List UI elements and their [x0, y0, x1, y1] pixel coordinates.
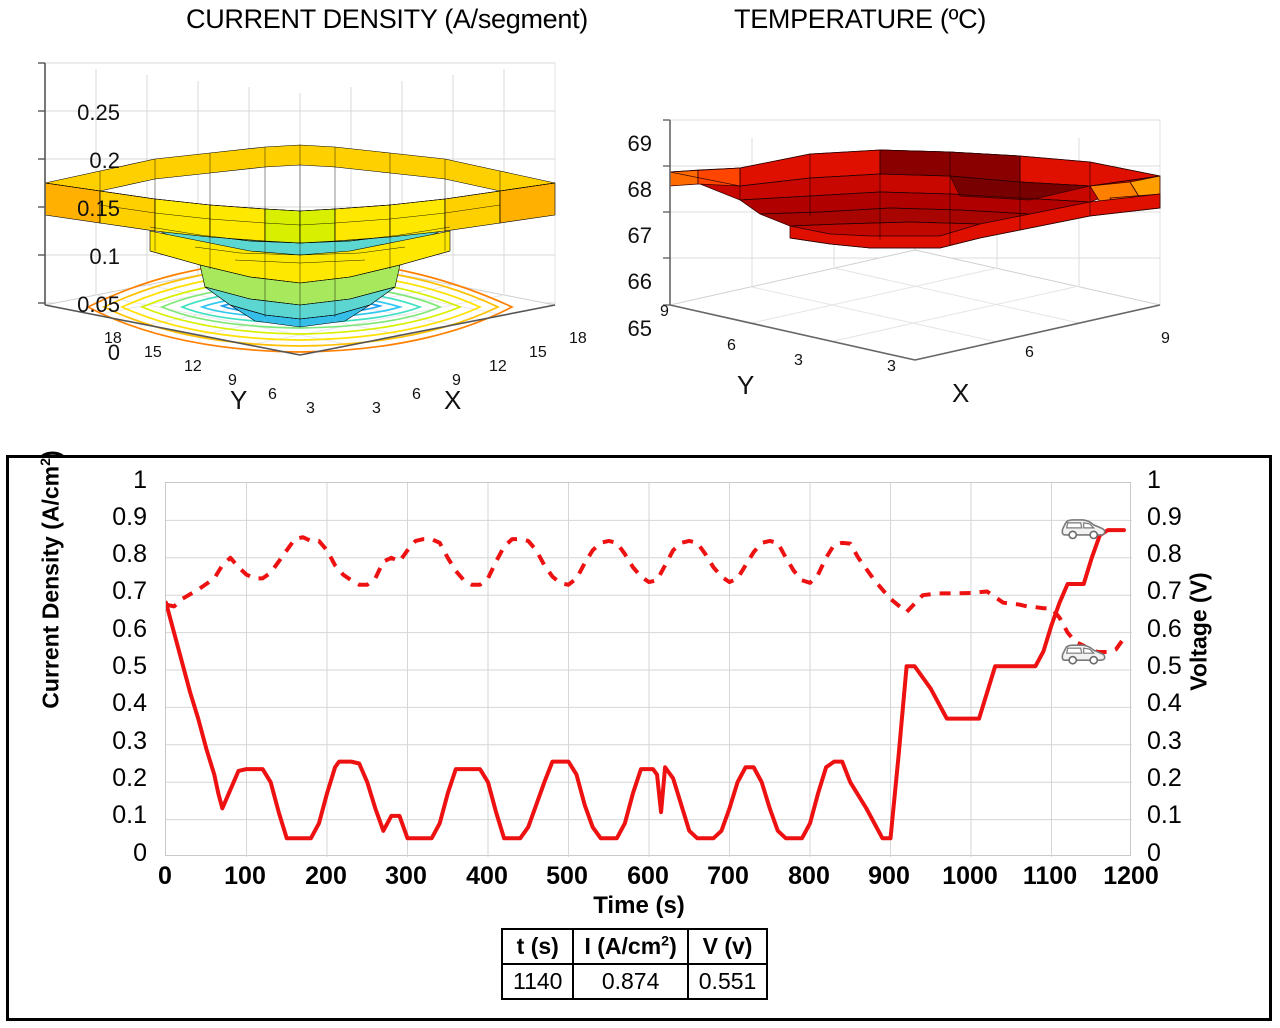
temp-x-tick-0: 3	[887, 358, 896, 376]
left-y-axis-label-close: )	[38, 450, 64, 458]
temperature-surface-plot	[640, 90, 1240, 470]
x-tick-1200: 1200	[1086, 862, 1176, 891]
table-row: 1140 0.874 0.551	[502, 964, 767, 999]
x-tick-700: 700	[683, 862, 773, 891]
current-z-tick-1: 0.2	[10, 148, 120, 174]
x-tick-1000: 1000	[925, 862, 1015, 891]
current-y-tick-1: 15	[144, 344, 162, 362]
x-tick-300: 300	[361, 862, 451, 891]
x-tick-100: 100	[200, 862, 290, 891]
header-time: t (s)	[502, 929, 573, 964]
readout-table: t (s) I (A/cm2) V (v) 1140 0.874 0.551	[501, 928, 768, 1000]
header-current: I (A/cm2)	[573, 929, 687, 964]
left-y-axis-label: Current Density (A/cm2)	[38, 420, 65, 740]
x-tick-900: 900	[844, 862, 934, 891]
current-x-tick-1: 6	[412, 386, 421, 404]
header-current-close: )	[669, 933, 677, 959]
chart-plot-area[interactable]	[165, 482, 1131, 856]
current-x-tick-0: 3	[372, 400, 381, 418]
current-z-tick-3: 0.1	[10, 244, 120, 270]
cell-time: 1140	[502, 964, 573, 999]
current-density-series-line	[166, 530, 1124, 838]
current-y-tick-4: 6	[268, 386, 277, 404]
current-y-tick-2: 12	[184, 358, 202, 376]
x-tick-0: 0	[120, 862, 210, 891]
car-icon-lower	[1062, 645, 1104, 664]
current-x-tick-4: 15	[529, 344, 547, 362]
temp-z-tick-2: 67	[600, 223, 652, 249]
temp-y-tick-0: 9	[660, 303, 669, 321]
temp-y-tick-1: 6	[727, 337, 736, 355]
x-tick-800: 800	[764, 862, 854, 891]
left-y-tick-0.8: 0.8	[87, 540, 147, 569]
left-y-tick-0.3: 0.3	[87, 727, 147, 756]
right-y-tick-0.2: 0.2	[1147, 764, 1207, 793]
left-y-tick-0.1: 0.1	[87, 801, 147, 830]
temp-x-tick-1: 6	[1025, 344, 1034, 362]
header-voltage: V (v)	[688, 929, 768, 964]
temp-x-tick-2: 9	[1161, 330, 1170, 348]
current-z-tick-2: 0.15	[10, 196, 120, 222]
header-current-text: I (A/cm	[584, 933, 661, 959]
left-y-axis-label-sup: 2	[38, 458, 54, 466]
left-y-tick-0.5: 0.5	[87, 652, 147, 681]
right-y-axis-label: Voltage (V)	[1186, 512, 1213, 752]
x-tick-400: 400	[442, 862, 532, 891]
current-density-plot-title: CURRENT DENSITY (A/segment)	[186, 4, 588, 35]
table-header-row: t (s) I (A/cm2) V (v)	[502, 929, 767, 964]
line-chart-panel: 1 0.9 0.8 0.7 0.6 0.5 0.4 0.3 0.2 0.1 0 …	[6, 455, 1272, 1021]
x-tick-1100: 1100	[1005, 862, 1095, 891]
temp-z-tick-4: 65	[600, 316, 652, 342]
left-y-tick-0.7: 0.7	[87, 577, 147, 606]
x-tick-600: 600	[603, 862, 693, 891]
temp-z-tick-1: 68	[600, 177, 652, 203]
current-z-tick-4: 0.05	[10, 292, 120, 318]
temp-z-tick-0: 69	[600, 131, 652, 157]
surface-plots-row: CURRENT DENSITY (A/segment) TEMPERATURE …	[0, 0, 1280, 450]
temperature-plot-title: TEMPERATURE (ºC)	[734, 4, 986, 35]
current-y-tick-5: 3	[306, 400, 315, 418]
x-tick-500: 500	[522, 862, 612, 891]
current-y-axis-label: Y	[230, 385, 247, 416]
left-y-tick-0.9: 0.9	[87, 503, 147, 532]
header-current-sup: 2	[661, 933, 669, 949]
left-y-tick-0.2: 0.2	[87, 764, 147, 793]
left-y-tick-0.6: 0.6	[87, 615, 147, 644]
cell-voltage: 0.551	[688, 964, 768, 999]
current-x-tick-3: 12	[489, 358, 507, 376]
current-x-axis-label: X	[444, 385, 461, 416]
left-y-tick-0.4: 0.4	[87, 689, 147, 718]
temp-x-axis-label: X	[952, 378, 969, 409]
current-x-tick-5: 18	[569, 330, 587, 348]
cell-current: 0.874	[573, 964, 687, 999]
temp-z-tick-3: 66	[600, 269, 652, 295]
voltage-series-line	[166, 537, 1124, 652]
temp-y-tick-2: 3	[794, 352, 803, 370]
right-y-tick-0.1: 0.1	[1147, 801, 1207, 830]
temp-y-axis-label: Y	[737, 370, 754, 401]
chart-series-svg	[166, 483, 1132, 857]
x-axis-label: Time (s)	[9, 892, 1269, 920]
current-y-tick-0: 18	[104, 330, 122, 348]
left-y-tick-1: 1	[87, 466, 147, 495]
left-y-axis-label-text: Current Density (A/cm	[38, 466, 64, 709]
x-tick-200: 200	[281, 862, 371, 891]
current-z-tick-0: 0.25	[10, 100, 120, 126]
right-y-tick-1: 1	[1147, 466, 1207, 495]
